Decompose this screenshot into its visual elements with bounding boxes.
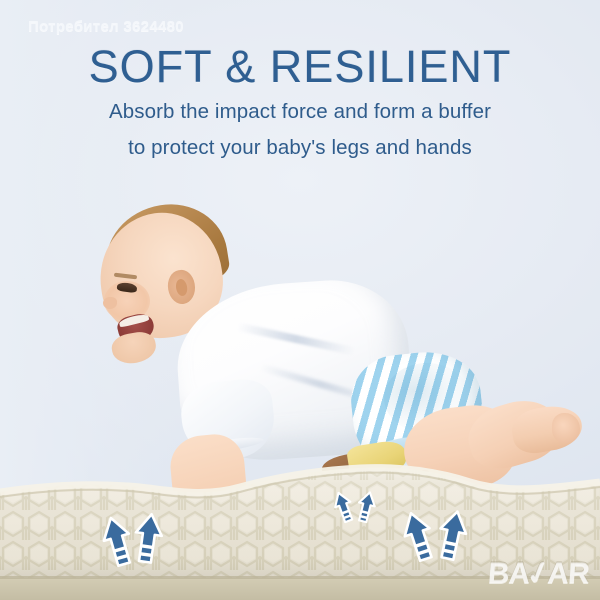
subtitle-line-1: Absorb the impact force and form a buffe… [0,100,600,124]
product-infographic: Потребител 3624480 SOFT & RESILIENT Abso… [0,0,600,600]
baby-photo [0,185,600,515]
subtitle-line-2: to protect your baby's legs and hands [0,136,600,160]
bazar-watermark: BA✓AR [487,556,590,591]
baby-nose [103,297,117,309]
baby-chin [110,329,159,366]
page-title: SOFT & RESILIENT [0,41,600,93]
user-watermark: Потребител 3624480 [28,18,184,35]
baby-toes [552,413,580,443]
